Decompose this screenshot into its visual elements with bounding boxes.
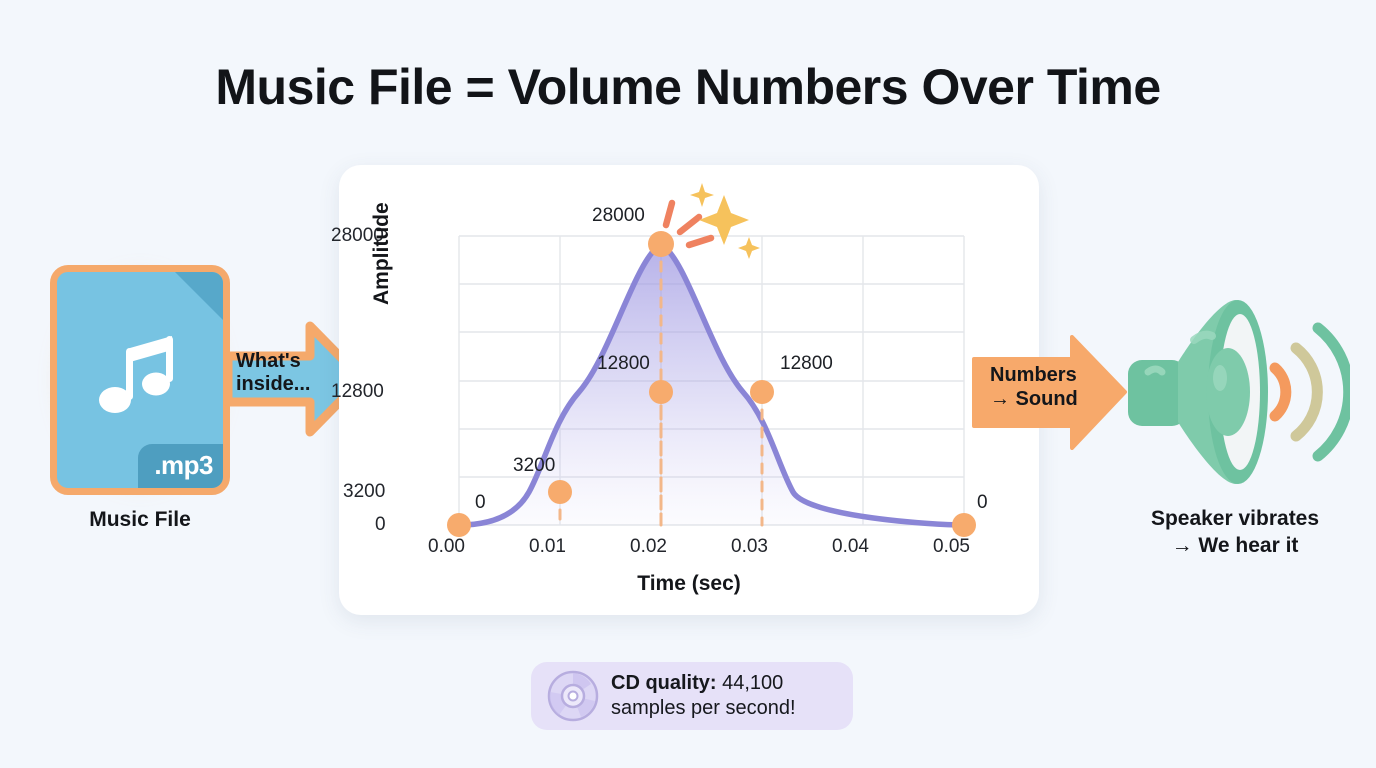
speaker-icon: [1120, 292, 1350, 492]
data-point: [952, 513, 976, 537]
x-axis-title: Time (sec): [339, 572, 1039, 596]
data-point: [649, 380, 673, 404]
page-fold-corner: [175, 272, 223, 320]
y-tick-12800: 12800: [331, 381, 384, 403]
point-label-4: 12800: [780, 353, 833, 375]
chart-card: 0 3200 12800 28000 0.00 0.01 0.02 0.03 0…: [339, 165, 1039, 615]
arrow-label: What's inside...: [236, 350, 318, 396]
data-point: [548, 480, 572, 504]
data-point: [648, 231, 674, 257]
y-tick-3200: 3200: [343, 481, 385, 503]
file-extension-badge: .mp3: [138, 444, 225, 490]
arrow-label: Numbers → Sound: [990, 363, 1094, 411]
x-tick-5: 0.05: [933, 536, 970, 558]
cd-quality-text: CD quality: 44,100 samples per second!: [611, 671, 796, 721]
point-label-5: 0: [977, 492, 988, 514]
infographic-canvas: Music File = Volume Numbers Over Time .m…: [0, 0, 1376, 768]
speaker-caption: Speaker vibrates → We hear it: [1085, 505, 1376, 560]
point-label-3: 28000: [592, 205, 645, 227]
data-point: [447, 513, 471, 537]
point-label-1: 3200: [513, 455, 555, 477]
y-axis-title: Amplitude: [370, 202, 394, 305]
music-file-graphic: .mp3: [50, 265, 230, 495]
music-file-caption: Music File: [20, 508, 260, 532]
x-tick-2: 0.02: [630, 536, 667, 558]
cd-disc-icon: [547, 670, 599, 722]
x-tick-0: 0.00: [428, 536, 465, 558]
x-tick-3: 0.03: [731, 536, 768, 558]
music-note-icon: [96, 330, 184, 422]
cd-quality-badge: CD quality: 44,100 samples per second!: [531, 662, 853, 730]
point-label-0: 0: [475, 492, 486, 514]
y-tick-0: 0: [375, 514, 386, 536]
x-tick-1: 0.01: [529, 536, 566, 558]
page-title: Music File = Volume Numbers Over Time: [0, 58, 1376, 116]
point-label-2: 12800: [597, 353, 650, 375]
data-point: [750, 380, 774, 404]
numbers-to-sound-arrow: Numbers → Sound: [972, 335, 1127, 450]
sparkle-burst-icon: [666, 183, 760, 259]
x-tick-4: 0.04: [832, 536, 869, 558]
mp3-file-icon: .mp3: [50, 265, 230, 495]
